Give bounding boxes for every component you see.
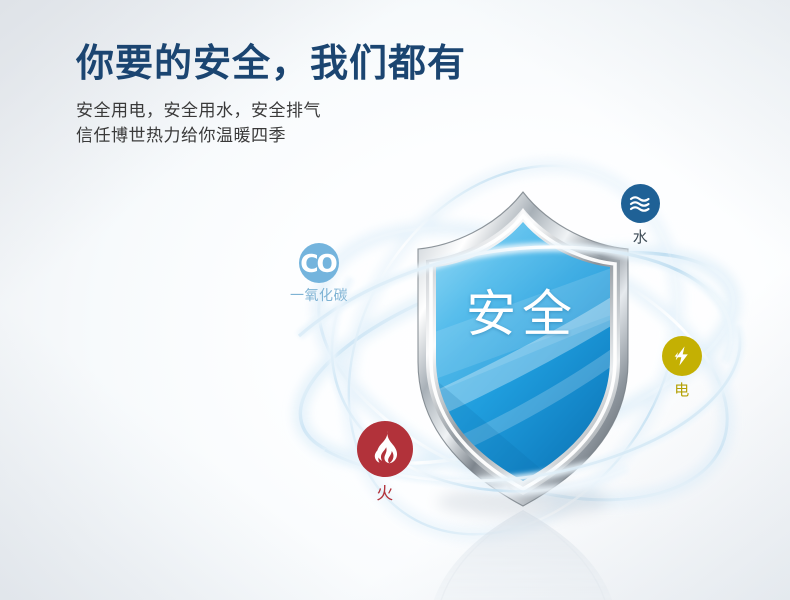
badge-label-carbon-monoxide: 一氧化碳 (290, 285, 348, 305)
badge-label-water: 水 (633, 226, 649, 247)
lightning-bolt-icon (662, 336, 702, 376)
badge-electricity[interactable]: 电 (662, 336, 702, 400)
banner-subtitle: 安全用电，安全用水，安全排气 信任博世热力给你温暖四季 (76, 99, 466, 151)
badge-label-electricity: 电 (674, 379, 690, 400)
flame-icon (357, 421, 413, 477)
banner-copy: 你要的安全，我们都有 安全用电，安全用水，安全排气 信任博世热力给你温暖四季 (76, 42, 466, 150)
carbon-monoxide-icon: CO (299, 243, 339, 283)
badge-fire[interactable]: 火 (357, 421, 413, 504)
subtitle-line-1: 安全用电，安全用水，安全排气 (76, 99, 466, 125)
shield-label: 安全 (455, 289, 589, 339)
water-waves-icon (621, 184, 660, 223)
promo-banner: 你要的安全，我们都有 安全用电，安全用水，安全排气 信任博世热力给你温暖四季 安… (0, 0, 790, 600)
shield-reflection (427, 510, 619, 600)
page-title: 你要的安全，我们都有 (76, 42, 466, 85)
subtitle-line-2: 信任博世热力给你温暖四季 (76, 124, 466, 150)
co-symbol: CO (300, 251, 336, 276)
badge-carbon-monoxide[interactable]: CO 一氧化碳 (290, 243, 348, 305)
badge-label-fire: 火 (376, 479, 394, 504)
badge-water[interactable]: 水 (621, 184, 660, 247)
